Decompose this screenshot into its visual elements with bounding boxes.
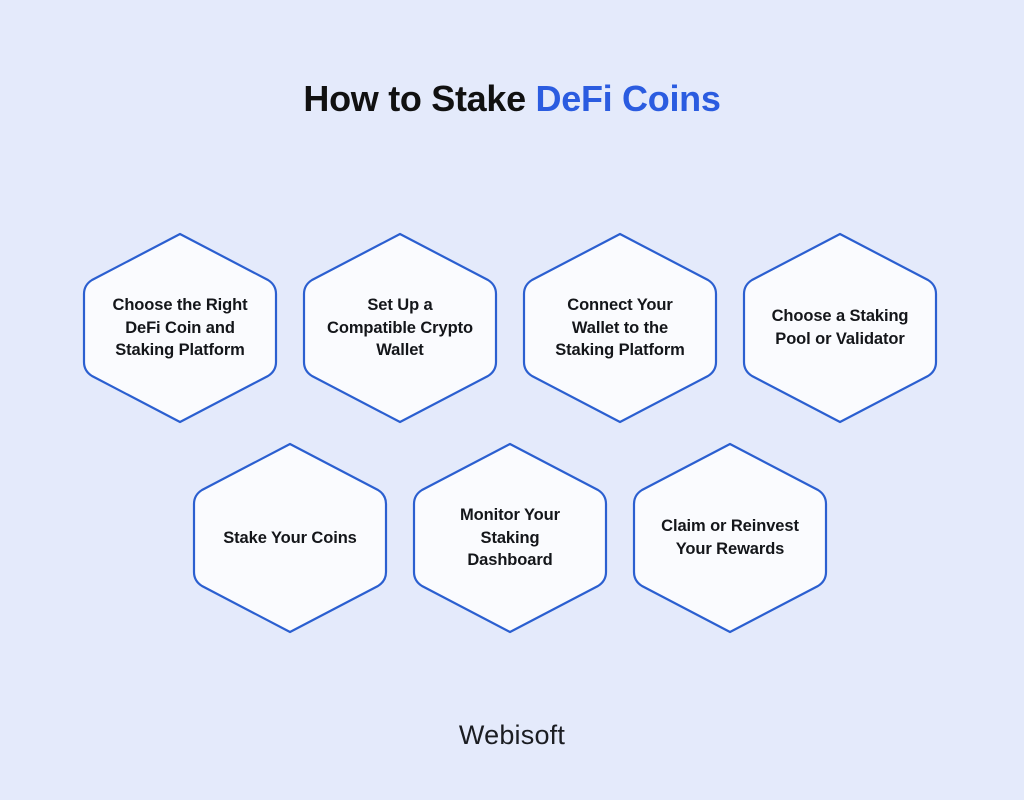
step-hexagon-4[interactable]: Choose a Staking Pool or Validator bbox=[740, 230, 940, 426]
step-label-5: Stake Your Coins bbox=[190, 440, 390, 636]
step-hexagon-3[interactable]: Connect Your Wallet to the Staking Platf… bbox=[520, 230, 720, 426]
step-hexagon-2[interactable]: Set Up a Compatible Crypto Wallet bbox=[300, 230, 500, 426]
brand-name: Webisoft bbox=[0, 720, 1024, 751]
step-hexagon-1[interactable]: Choose the Right DeFi Coin and Staking P… bbox=[80, 230, 280, 426]
step-hexagon-6[interactable]: Monitor Your Staking Dashboard bbox=[410, 440, 610, 636]
step-hexagon-5[interactable]: Stake Your Coins bbox=[190, 440, 390, 636]
step-label-7: Claim or Reinvest Your Rewards bbox=[630, 440, 830, 636]
step-label-2: Set Up a Compatible Crypto Wallet bbox=[300, 230, 500, 426]
step-hexagon-7[interactable]: Claim or Reinvest Your Rewards bbox=[630, 440, 830, 636]
step-label-1: Choose the Right DeFi Coin and Staking P… bbox=[80, 230, 280, 426]
steps-honeycomb: Choose the Right DeFi Coin and Staking P… bbox=[0, 0, 1024, 800]
step-label-4: Choose a Staking Pool or Validator bbox=[740, 230, 940, 426]
step-label-6: Monitor Your Staking Dashboard bbox=[410, 440, 610, 636]
step-label-3: Connect Your Wallet to the Staking Platf… bbox=[520, 230, 720, 426]
infographic-canvas: How to Stake DeFi Coins Choose the Right… bbox=[0, 0, 1024, 800]
